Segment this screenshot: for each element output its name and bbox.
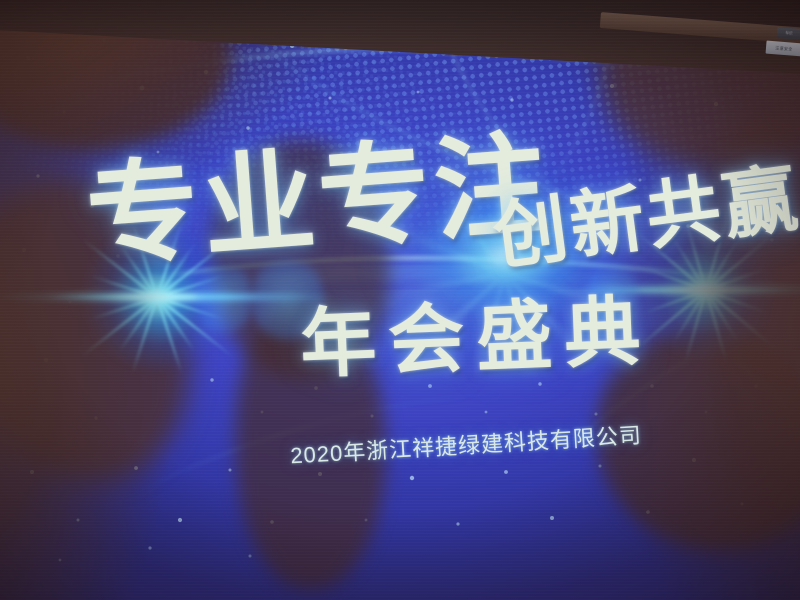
projected-slide-photo: 专业专注 创新共赢 年会盛典 2020年浙江祥捷绿建科技有限公司 标识 注意安全 [0,0,800,600]
photo-vignette [0,0,800,600]
